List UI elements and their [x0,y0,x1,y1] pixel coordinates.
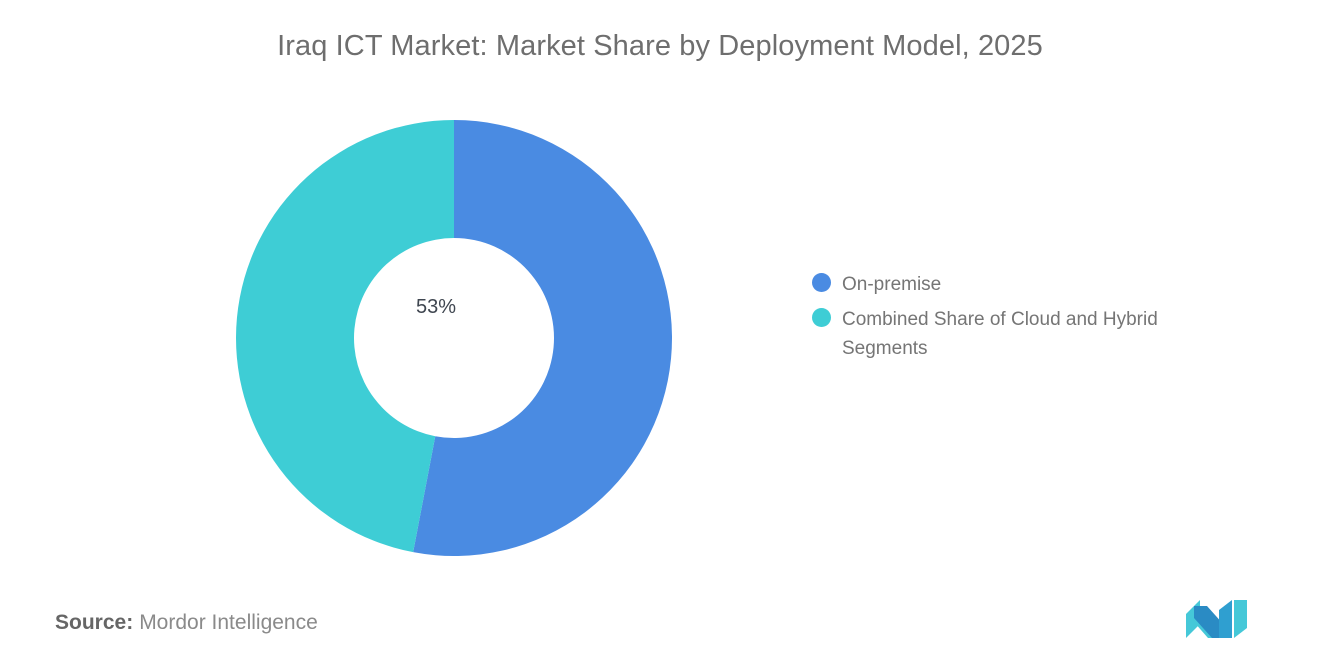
logo-mark-svg [1184,598,1250,640]
mordor-intelligence-logo-icon [1184,598,1250,640]
source-value: Mordor Intelligence [139,611,318,634]
chart-page: Iraq ICT Market: Market Share by Deploym… [0,0,1320,665]
legend-label-combined-cloud-hybrid: Combined Share of Cloud and Hybrid Segme… [842,305,1232,363]
legend-item-on-premise[interactable]: On-premise [812,270,1242,299]
source-label: Source: [55,611,133,634]
donut-chart: 53% [236,120,672,556]
source-attribution: Source:Mordor Intelligence [55,611,318,635]
legend-swatch-icon-combined-cloud-hybrid [812,308,831,327]
legend-label-on-premise: On-premise [842,270,941,299]
donut-slice[interactable] [236,120,454,552]
page-title: Iraq ICT Market: Market Share by Deploym… [0,30,1320,63]
legend-item-combined-cloud-hybrid[interactable]: Combined Share of Cloud and Hybrid Segme… [812,305,1242,363]
chart-legend: On-premise Combined Share of Cloud and H… [812,270,1242,369]
donut-chart-svg [236,120,672,556]
legend-swatch-icon-on-premise [812,273,831,292]
